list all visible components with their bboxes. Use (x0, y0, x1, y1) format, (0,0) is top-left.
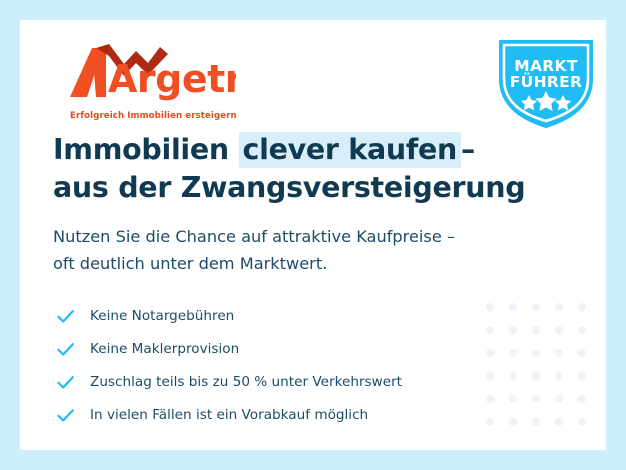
check-icon (56, 340, 75, 359)
headline-line-2: aus der Zwangsversteigerung (53, 169, 573, 207)
banner-card: Argetra Erfolgreich Immobilien ersteiger… (20, 20, 606, 450)
list-item: Keine Maklerprovision (56, 334, 526, 364)
page-title: Immobilien clever kaufen– aus der Zwangs… (53, 131, 573, 207)
headline-text-before: Immobilien (53, 133, 229, 166)
decorative-dot (578, 372, 586, 380)
decorative-dot (555, 349, 563, 357)
decorative-dot (578, 326, 586, 334)
decorative-dot (578, 418, 586, 426)
headline-line-1: Immobilien clever kaufen– (53, 131, 573, 169)
list-item-label: In vielen Fällen ist ein Vorabkauf mögli… (90, 407, 368, 423)
decorative-dot (555, 418, 563, 426)
list-item: Zuschlag teils bis zu 50 % unter Verkehr… (56, 367, 526, 397)
list-item: In vielen Fällen ist ein Vorabkauf mögli… (56, 400, 526, 430)
markt-fuehrer-badge: MARKT FÜHRER (490, 33, 602, 131)
subtitle-line-1: Nutzen Sie die Chance auf attraktive Kau… (53, 223, 573, 250)
check-icon (56, 373, 75, 392)
list-item: Keine Notargebühren (56, 301, 526, 331)
decorative-dot (532, 349, 540, 357)
decorative-dot (578, 303, 586, 311)
decorative-dot (532, 372, 540, 380)
argetra-a-roof-icon: Argetra (56, 42, 236, 102)
headline-highlight: clever kaufen (239, 132, 461, 168)
decorative-dot (578, 349, 586, 357)
svg-text:FÜHRER: FÜHRER (510, 72, 582, 91)
decorative-dot (532, 303, 540, 311)
decorative-dot (555, 395, 563, 403)
decorative-dot (555, 303, 563, 311)
page-subtitle: Nutzen Sie die Chance auf attraktive Kau… (53, 223, 573, 277)
argetra-logo[interactable]: Argetra Erfolgreich Immobilien ersteiger… (56, 42, 236, 124)
decorative-dot (532, 395, 540, 403)
decorative-dot (578, 395, 586, 403)
check-icon (56, 307, 75, 326)
check-icon (56, 406, 75, 425)
subtitle-line-2: oft deutlich unter dem Marktwert. (53, 250, 573, 277)
list-item-label: Zuschlag teils bis zu 50 % unter Verkehr… (90, 374, 402, 390)
benefits-list: Keine NotargebührenKeine Maklerprovision… (56, 301, 526, 433)
list-item-label: Keine Notargebühren (90, 308, 234, 324)
svg-text:Argetra: Argetra (108, 57, 236, 101)
banner-frame: Argetra Erfolgreich Immobilien ersteiger… (0, 0, 626, 470)
decorative-dot (532, 418, 540, 426)
headline-text-after: – (461, 133, 475, 166)
decorative-dot (555, 326, 563, 334)
list-item-label: Keine Maklerprovision (90, 341, 239, 357)
decorative-dot (532, 326, 540, 334)
logo-tagline: Erfolgreich Immobilien ersteigern (70, 111, 237, 121)
decorative-dot (555, 372, 563, 380)
